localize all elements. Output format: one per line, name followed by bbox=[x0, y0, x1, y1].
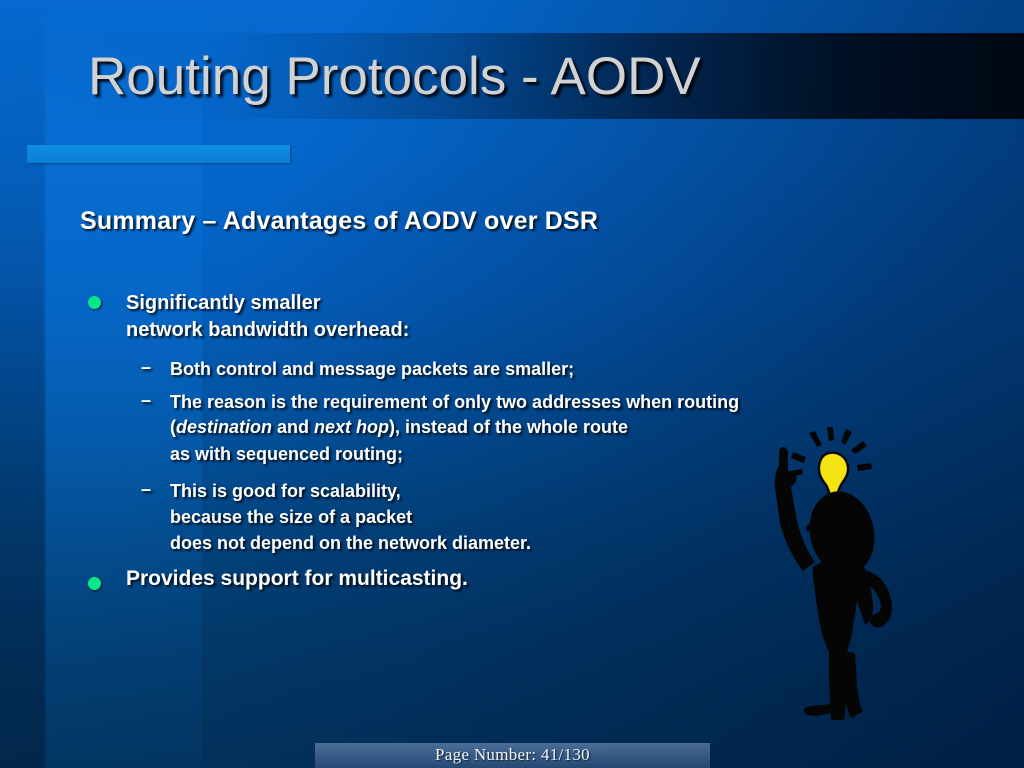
term-next-hop: next hop bbox=[314, 417, 389, 437]
sub-bullet-3-line-2: because the size of a packet bbox=[170, 505, 412, 530]
stick-figure-illustration bbox=[745, 425, 930, 720]
bullet-marker-dot bbox=[88, 296, 101, 309]
section-subheading: Summary – Advantages of AODV over DSR bbox=[80, 207, 598, 236]
sub-bullet-3-text-b: because the size of a packet bbox=[170, 507, 412, 527]
sub-bullet-3-line-3: does not depend on the network diameter. bbox=[170, 531, 531, 556]
sub-bullet-2-text-c: as with sequenced routing; bbox=[170, 444, 403, 464]
sub-bullet-1-line-1: Both control and message packets are sma… bbox=[170, 357, 574, 382]
sub-bullet-1-text: Both control and message packets are sma… bbox=[170, 359, 574, 379]
sub-bullet-2-text-a: The reason is the requirement of only tw… bbox=[170, 392, 739, 412]
term-destination: destination bbox=[176, 417, 272, 437]
sub-bullet-marker-2: – bbox=[141, 390, 151, 411]
sub-bullet-2-line-2: (destination and next hop), instead of t… bbox=[170, 415, 628, 440]
sub-bullet-2-line-1: The reason is the requirement of only tw… bbox=[170, 390, 739, 415]
conjunction-and: and bbox=[272, 417, 314, 437]
bullet-item-2-line-1: Provides support for multicasting. bbox=[126, 566, 468, 592]
sub-bullet-3-text-c: does not depend on the network diameter. bbox=[170, 533, 531, 553]
sub-bullet-marker-1: – bbox=[141, 357, 151, 378]
bullet-item-1-line-1: Significantly smaller bbox=[126, 290, 321, 316]
sub-bullet-marker-3: – bbox=[141, 479, 151, 500]
presentation-slide: Routing Protocols - AODV Summary – Advan… bbox=[0, 0, 1024, 768]
sub-bullet-3-line-1: This is good for scalability, bbox=[170, 479, 401, 504]
clause-tail: ), instead of the whole route bbox=[389, 417, 628, 437]
sub-bullet-2-line-3: as with sequenced routing; bbox=[170, 442, 403, 467]
sub-bullet-3-text-a: This is good for scalability, bbox=[170, 481, 401, 501]
page-number-label: Page Number: 41/130 bbox=[315, 745, 710, 765]
bullet-marker-dot-2 bbox=[88, 577, 101, 590]
bullet-item-1-line-2: network bandwidth overhead: bbox=[126, 317, 409, 343]
